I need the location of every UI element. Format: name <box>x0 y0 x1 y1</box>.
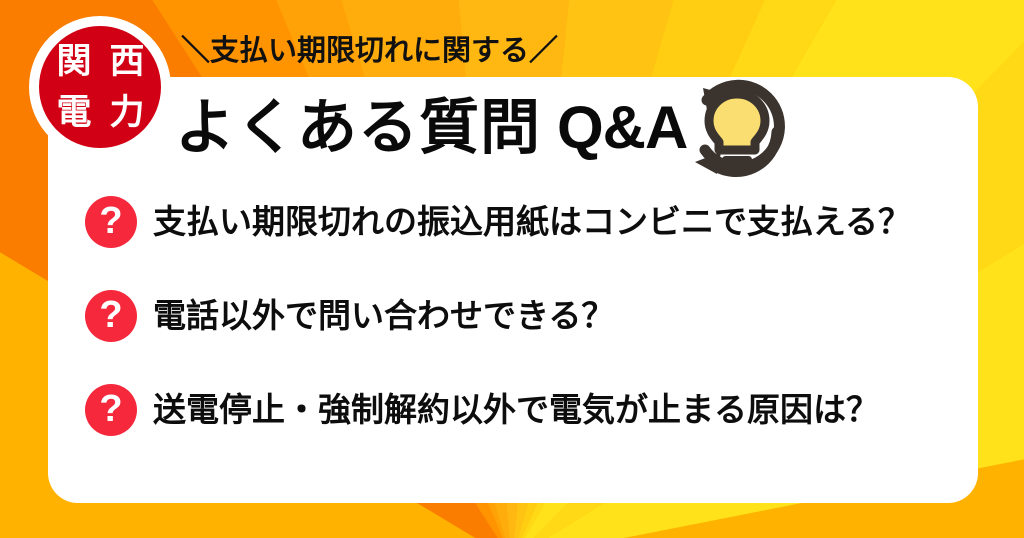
logo-char-3: 電 <box>56 95 90 130</box>
subtitle: ＼支払い期限切れに関する／ <box>175 36 789 66</box>
question-text-1: 支払い期限切れの振込用紙はコンビニで支払える？ <box>153 202 911 242</box>
question-mark-icon: ? <box>85 384 137 436</box>
question-item-3[interactable]: ? 送電停止・強制解約以外で電気が止まる原因は？ <box>85 384 911 436</box>
logo-characters: 関 西 電 力 <box>39 26 161 148</box>
question-item-1[interactable]: ? 支払い期限切れの振込用紙はコンビニで支払える？ <box>85 196 911 248</box>
logo-char-2: 西 <box>109 44 143 79</box>
header-block: ＼支払い期限切れに関する／ よくある質問 Q&A <box>175 36 789 187</box>
lightbulb-refresh-icon <box>681 70 789 187</box>
title-row: よくある質問 Q&A <box>175 68 789 187</box>
question-mark-icon: ? <box>85 290 137 342</box>
question-text-2: 電話以外で問い合わせできる？ <box>153 296 614 336</box>
question-list: ? 支払い期限切れの振込用紙はコンビニで支払える？ ? 電話以外で問い合わせでき… <box>85 196 911 436</box>
banner-image: 関 西 電 力 ＼支払い期限切れに関する／ よくある質問 Q&A <box>0 0 1024 538</box>
question-item-2[interactable]: ? 電話以外で問い合わせできる？ <box>85 290 911 342</box>
logo-char-4: 力 <box>109 95 143 130</box>
question-mark-icon: ? <box>85 196 137 248</box>
question-text-3: 送電停止・強制解約以外で電気が止まる原因は？ <box>153 390 879 430</box>
kansai-denryoku-logo: 関 西 電 力 <box>29 16 171 158</box>
qa-label: Q&A <box>557 96 687 161</box>
logo-char-1: 関 <box>56 44 90 79</box>
page-title: よくある質問 <box>175 96 541 161</box>
